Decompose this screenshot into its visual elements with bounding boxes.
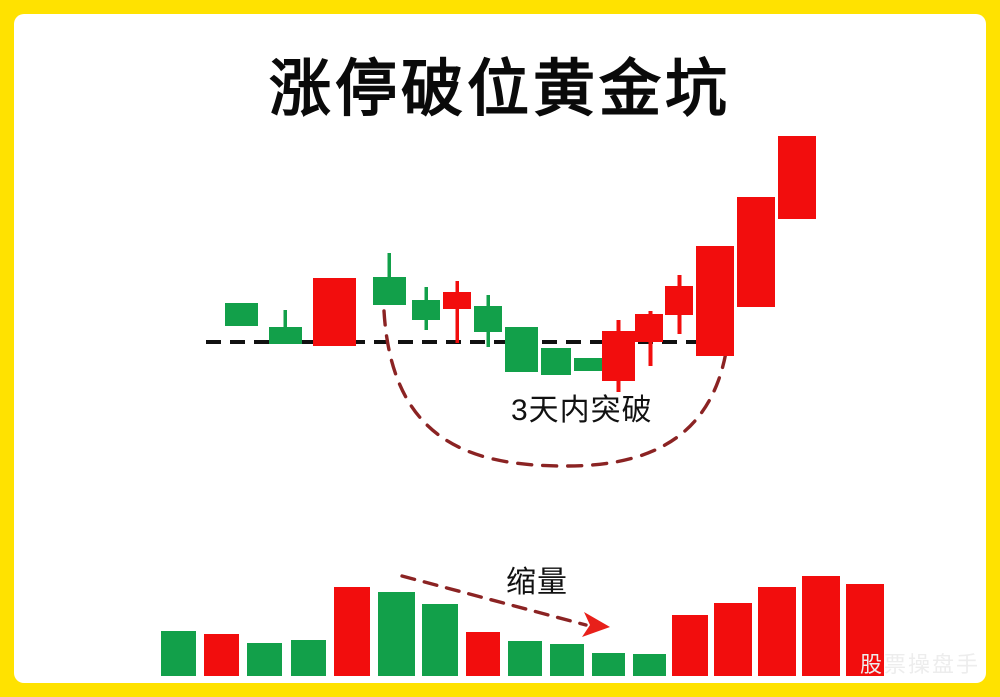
volume-bar-8 (508, 641, 542, 676)
candle-14 (737, 197, 775, 307)
candle-10 (602, 320, 635, 392)
candle-4 (412, 287, 440, 330)
candle-7 (505, 327, 538, 372)
candle-9 (574, 358, 604, 371)
volume-bar-4 (334, 587, 370, 676)
candle-11 (635, 311, 663, 366)
candle-12 (665, 275, 693, 334)
volume-bar-0 (161, 631, 196, 676)
volume-bar-11 (633, 654, 666, 676)
watermark: 股票操盘手 (860, 647, 980, 679)
candle-15 (778, 136, 816, 219)
volume-bar-15 (802, 576, 840, 676)
volume-bar-3 (291, 640, 326, 676)
candle-8 (541, 348, 571, 375)
volume-bar-2 (247, 643, 282, 676)
candle-6 (474, 295, 502, 347)
chart-stage: 3天内突破 缩量 股票操盘手 (14, 14, 986, 683)
volume-bar-13 (714, 603, 752, 676)
candle-0 (225, 303, 258, 326)
candle-1 (269, 310, 302, 344)
candle-5 (443, 281, 471, 343)
candle-2 (313, 278, 356, 346)
volume-bar-7 (466, 632, 500, 676)
annotation-shrink-volume: 缩量 (506, 557, 568, 601)
candle-13 (696, 246, 734, 356)
volume-bar-5 (378, 592, 415, 676)
volume-bar-6 (422, 604, 458, 676)
volume-bar-14 (758, 587, 796, 676)
volume-bar-1 (204, 634, 239, 676)
volume-bar-9 (550, 644, 584, 676)
candle-3 (373, 253, 406, 305)
annotation-breakout: 3天内突破 (511, 385, 653, 429)
volume-bar-12 (672, 615, 708, 676)
stock-chart-svg (14, 14, 986, 683)
volume-bar-10 (592, 653, 625, 676)
poster-frame: 涨停破位黄金坑 (14, 14, 986, 683)
